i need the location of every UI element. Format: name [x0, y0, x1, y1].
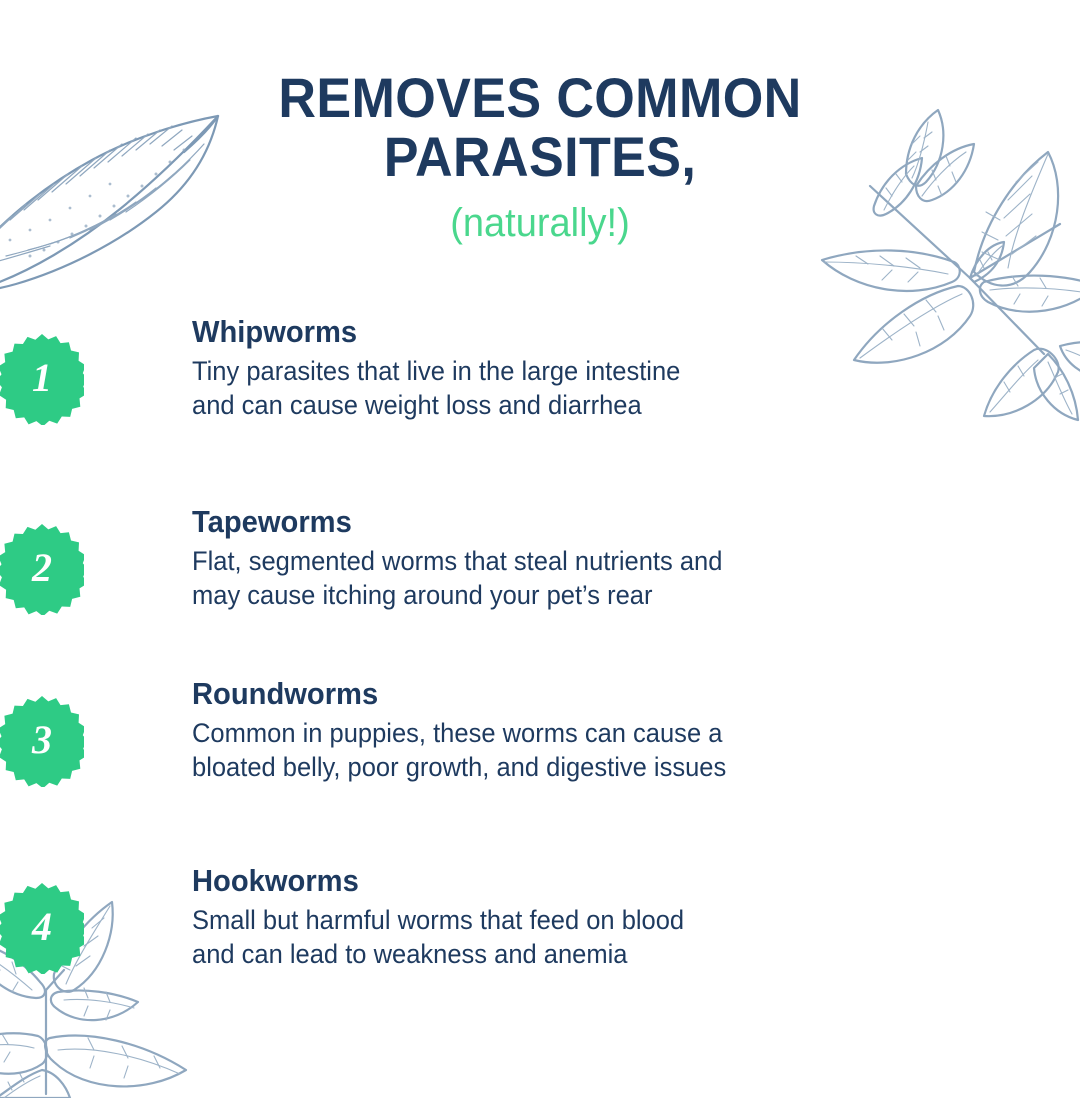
number-badge: 1 — [0, 333, 84, 425]
page-subtitle: (naturally!) — [27, 203, 1053, 243]
number-badge: 3 — [0, 695, 84, 787]
badge-number: 2 — [0, 523, 84, 615]
number-badge: 4 — [0, 882, 84, 974]
list-item-title: Tapeworms — [192, 504, 1027, 540]
list-item-text: Hookworms Small but harmful worms that f… — [192, 849, 1080, 972]
number-badge: 2 — [0, 523, 84, 615]
parasite-list: 1 Whipworms Tiny parasites that live in … — [0, 300, 1080, 1021]
list-item-title: Whipworms — [192, 314, 1027, 350]
list-item: 3 Roundworms Common in puppies, these wo… — [0, 662, 1080, 849]
badge-number: 1 — [0, 333, 84, 425]
page-title-line-1: REMOVES COMMON — [278, 66, 801, 129]
list-item-title: Hookworms — [192, 863, 1027, 899]
header-block: REMOVES COMMON PARASITES, (naturally!) — [0, 68, 1080, 243]
list-item-description: Small but harmful worms that feed on blo… — [192, 903, 1031, 972]
list-item-text: Tapeworms Flat, segmented worms that ste… — [192, 490, 1080, 613]
page-title: REMOVES COMMON PARASITES, — [38, 68, 1042, 187]
page-title-line-2: PARASITES, — [38, 127, 1042, 186]
list-item: 2 Tapeworms Flat, segmented worms that s… — [0, 490, 1080, 662]
badge-number: 4 — [0, 882, 84, 974]
list-item-description: Tiny parasites that live in the large in… — [192, 354, 1031, 423]
list-item-text: Whipworms Tiny parasites that live in th… — [192, 300, 1080, 423]
badge-number: 3 — [0, 695, 84, 787]
list-item-text: Roundworms Common in puppies, these worm… — [192, 662, 1080, 785]
list-item: 4 Hookworms Small but harmful worms that… — [0, 849, 1080, 1021]
list-item-title: Roundworms — [192, 676, 1027, 712]
list-item-description: Common in puppies, these worms can cause… — [192, 716, 1031, 785]
list-item: 1 Whipworms Tiny parasites that live in … — [0, 300, 1080, 490]
list-item-description: Flat, segmented worms that steal nutrien… — [192, 544, 1031, 613]
